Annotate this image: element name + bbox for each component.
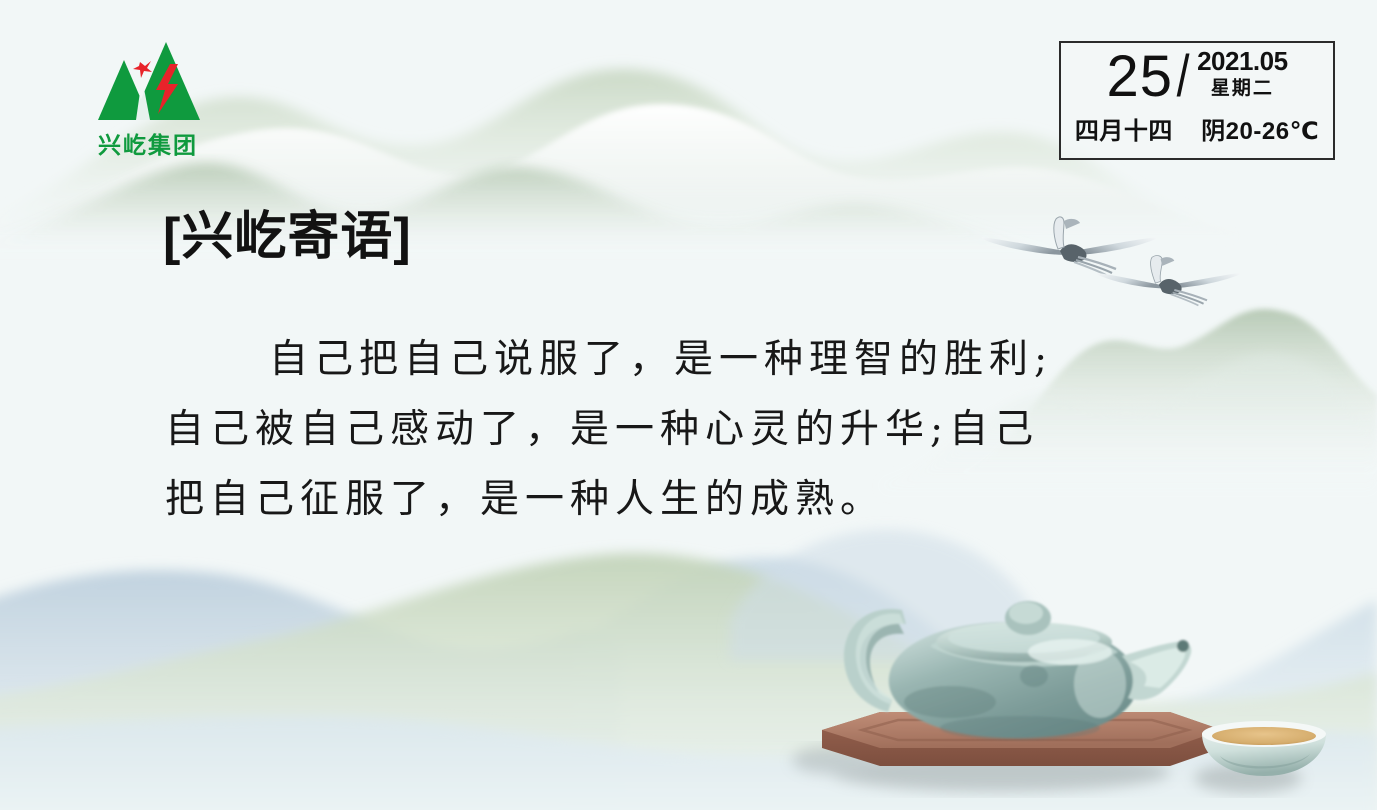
year-month: 2021.05 xyxy=(1197,47,1287,76)
flying-cranes-icon xyxy=(960,205,1290,315)
logo-mountain-mark xyxy=(92,38,204,130)
day-number: 25 xyxy=(1106,45,1173,109)
weather-info: 阴20-26℃ xyxy=(1201,118,1319,145)
date-card-right-column: 2021.05 星期二 xyxy=(1197,47,1287,102)
quote-text-block: 自己把自己说服了，是一种理智的胜利; 自己被自己感动了，是一种心灵的升华;自己 … xyxy=(165,325,1195,535)
page-title: [兴屹寄语] xyxy=(163,206,412,268)
quote-line: 自己把自己说服了，是一种理智的胜利; xyxy=(165,325,1195,395)
poster-canvas: 兴屹集团 25 / 2021.05 星期二 四月十四 阴20-26℃ [兴屹寄语… xyxy=(0,0,1377,810)
quote-line: 把自己征服了，是一种人生的成熟。 xyxy=(165,465,1195,535)
lunar-and-weather-row: 四月十四 阴20-26℃ xyxy=(1061,115,1333,149)
weekday: 星期二 xyxy=(1211,76,1274,102)
logo-wordmark: 兴屹集团 xyxy=(78,130,218,160)
date-card-top-row: 25 / 2021.05 星期二 xyxy=(1061,43,1333,115)
date-slash-separator: / xyxy=(1177,45,1190,109)
lunar-date: 四月十四 xyxy=(1075,118,1173,145)
quote-line: 自己被自己感动了，是一种心灵的升华;自己 xyxy=(165,395,1195,465)
xingyi-group-logo[interactable]: 兴屹集团 xyxy=(78,38,218,166)
teapot-illustration xyxy=(770,560,1377,810)
date-card: 25 / 2021.05 星期二 四月十四 阴20-26℃ xyxy=(1059,41,1335,160)
